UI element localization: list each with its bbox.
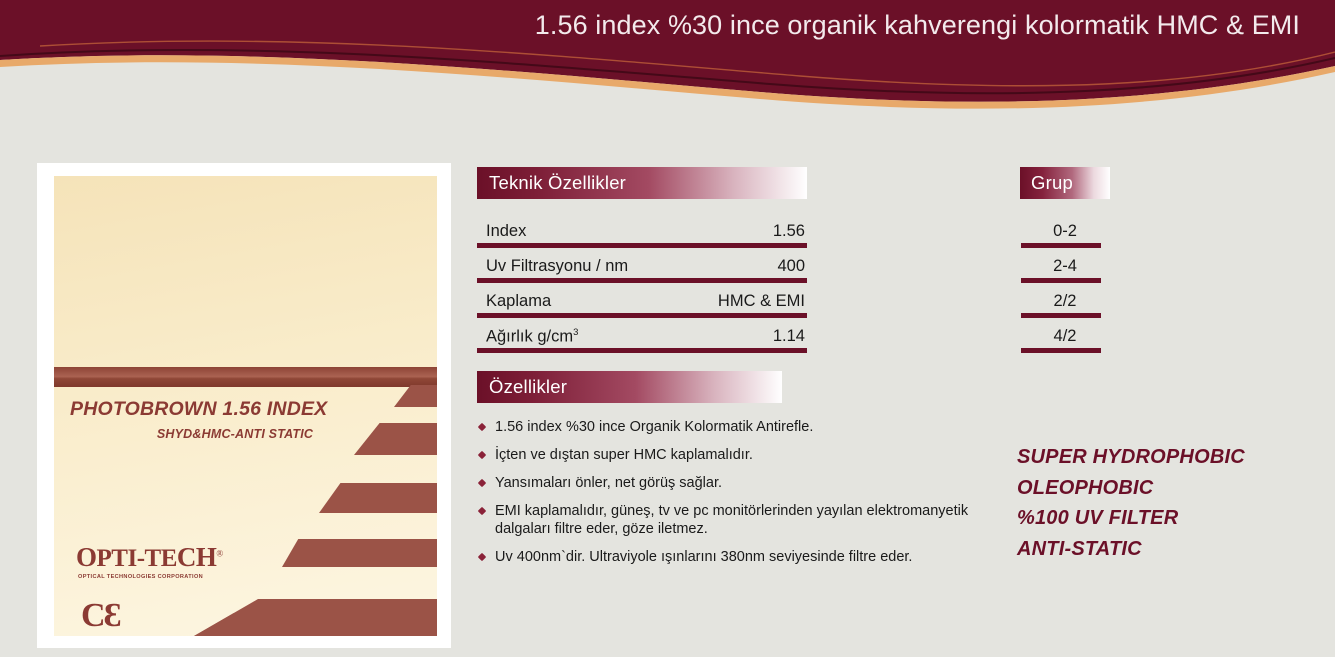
list-item: EMI kaplamalıdır, güneş, tv ve pc monitö… [477,502,977,540]
bullet-diamond-icon [478,451,486,459]
logo-letters-ch: CH [177,542,217,572]
row-underline-bar [477,313,807,318]
list-item-text: İçten ve dıştan super HMC kaplamalıdır. [495,447,753,463]
decorative-stripe-1 [394,385,437,407]
product-divider-bar [54,367,437,387]
tagline-line: %100 UV FILTER [1017,503,1245,534]
tagline-line: SUPER HYDROPHOBIC [1017,442,1245,473]
spec-table-header: Teknik Özellikler [477,167,807,199]
features-section: Özellikler 1.56 index %30 ince Organik K… [477,371,782,576]
decorative-stripe-3 [319,483,437,513]
table-row: 4/2 [1020,324,1110,359]
product-title: PHOTOBROWN 1.56 INDEX [70,398,400,421]
table-row: 2-4 [1020,254,1110,289]
table-row: 0-2 [1020,219,1110,254]
logo-tagline: OPTICAL TECHNOLOGIES CORPORATION [78,574,223,580]
features-header: Özellikler [477,371,782,403]
features-list: 1.56 index %30 ince Organik Kolormatik A… [477,418,977,567]
row-underline-bar [477,348,807,353]
spec-label: Uv Filtrasyonu / nm [486,257,628,276]
group-table-header: Grup [1020,167,1110,199]
group-table-header-label: Grup [1031,172,1073,194]
logo-letters-pti: PTI-T [97,545,161,572]
spec-table: Teknik Özellikler Index 1.56 Uv Filtrasy… [477,167,807,359]
list-item: Yansımaları önler, net görüş sağlar. [477,474,977,493]
product-card: PHOTOBROWN 1.56 INDEX SHYD&HMC-ANTI STAT… [54,176,437,636]
row-underline-bar [1021,243,1101,248]
row-underline-bar [477,278,807,283]
header-banner: 1.56 index %30 ince organik kahverengi k… [0,0,1335,120]
spec-value: HMC & EMI [718,292,805,311]
group-table: Grup 0-2 2-4 2/2 4/2 [1020,167,1110,359]
product-subtitle: SHYD&HMC-ANTI STATIC [70,427,400,441]
spec-label-text: Ağırlık g/cm [486,328,573,346]
spec-table-header-label: Teknik Özellikler [489,172,626,194]
row-underline-bar [1021,313,1101,318]
row-underline-bar [1021,348,1101,353]
table-row: Ağırlık g/cm3 1.14 [477,324,807,359]
list-item: İçten ve dıştan super HMC kaplamalıdır. [477,446,977,465]
row-underline-bar [477,243,807,248]
spec-label: Kaplama [486,292,551,311]
spec-label-superscript: 3 [573,327,578,338]
list-item: 1.56 index %30 ince Organik Kolormatik A… [477,418,977,437]
opti-tech-logo: OPTI-TECH® OPTICAL TECHNOLOGIES CORPORAT… [76,544,223,580]
product-image-panel: PHOTOBROWN 1.56 INDEX SHYD&HMC-ANTI STAT… [37,163,451,648]
spec-label: Index [486,222,526,241]
bullet-diamond-icon [478,506,486,514]
logo-wordmark: OPTI-TECH® [76,544,223,571]
spec-value: 400 [777,257,805,276]
list-item-text: Uv 400nm`dir. Ultraviyole ışınlarını 380… [495,549,912,565]
list-item-text: EMI kaplamalıdır, güneş, tv ve pc monitö… [495,503,968,538]
spec-value: 1.14 [773,327,805,346]
logo-letter-o: O [76,542,97,572]
page-title: 1.56 index %30 ince organik kahverengi k… [0,10,1300,41]
group-value: 0-2 [1020,222,1110,241]
registered-trademark-icon: ® [216,549,222,559]
ce-mark-icon: CƐ [81,599,120,633]
row-underline-bar [1021,278,1101,283]
table-row: Uv Filtrasyonu / nm 400 [477,254,807,289]
bullet-diamond-icon [478,423,486,431]
list-item-text: 1.56 index %30 ince Organik Kolormatik A… [495,419,813,435]
features-header-label: Özellikler [489,376,567,398]
tagline-block: SUPER HYDROPHOBIC OLEOPHOBIC %100 UV FIL… [1017,442,1245,564]
table-row: Index 1.56 [477,219,807,254]
bullet-diamond-icon [478,478,486,486]
spec-label: Ağırlık g/cm3 [486,327,578,347]
bullet-diamond-icon [478,553,486,561]
table-row: 2/2 [1020,289,1110,324]
group-value: 4/2 [1020,327,1110,346]
list-item-text: Yansımaları önler, net görüş sağlar. [495,475,722,491]
table-row: Kaplama HMC & EMI [477,289,807,324]
logo-letter-e: E [161,545,177,572]
decorative-stripe-4 [282,539,437,567]
list-item: Uv 400nm`dir. Ultraviyole ışınlarını 380… [477,548,977,567]
tagline-line: OLEOPHOBIC [1017,473,1245,504]
group-value: 2-4 [1020,257,1110,276]
spec-value: 1.56 [773,222,805,241]
group-value: 2/2 [1020,292,1110,311]
decorative-stripe-5 [194,599,437,636]
tagline-line: ANTI-STATIC [1017,534,1245,565]
